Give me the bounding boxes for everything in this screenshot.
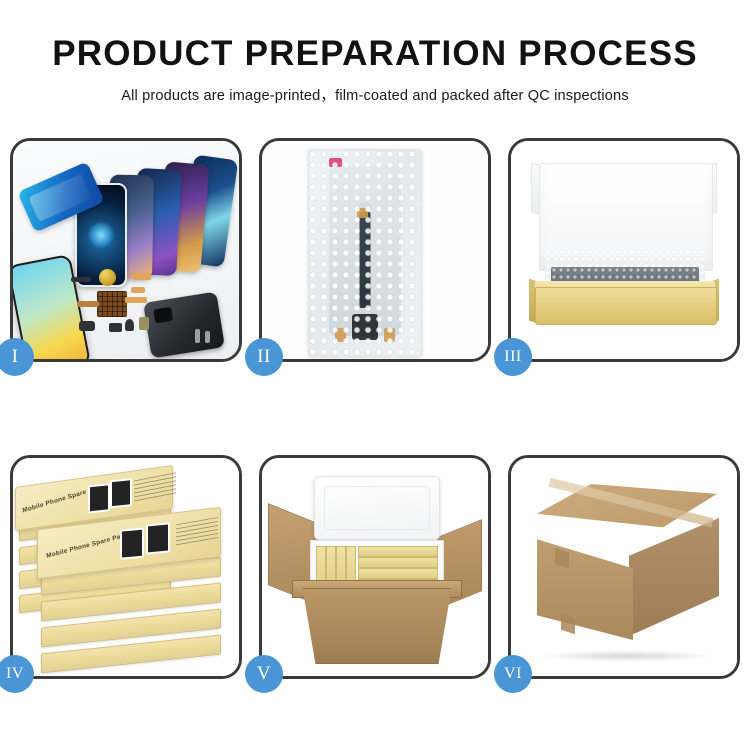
box-screen-image-2 [146,522,170,554]
step-panel-3[interactable]: III [508,138,740,362]
chip-board-part [97,291,127,317]
phone-back-cover [143,292,225,359]
box-screen-image-1 [88,483,110,513]
box-screen-image-2 [110,478,132,508]
step-numeral: VI [504,665,522,683]
camera-module-part [79,321,95,331]
vibration-motor-part [99,269,116,286]
box-spec-lines [176,517,218,546]
step-panel-2[interactable]: II [259,138,491,362]
page-title: PRODUCT PREPARATION PROCESS [0,0,750,73]
packed-box [358,568,438,579]
gold-contact-left [335,328,346,342]
packed-box [358,546,438,557]
step-4-image: Mobile Phone Spare Parts Mobile Phone Sp… [13,458,239,676]
kraft-box-front [535,287,717,325]
pink-label-sticker [329,158,342,167]
step-numeral: III [504,348,521,366]
step-badge-5: V [245,655,283,693]
small-ic-part [109,323,122,332]
step-numeral: V [257,663,271,685]
step-badge-4: IV [0,655,34,693]
flex-cable-1 [133,273,151,280]
step-numeral: II [257,346,271,368]
packed-box [358,557,438,568]
sim-tray-part [139,317,149,330]
foam-lid [314,476,440,540]
box-spec-lines [134,472,176,502]
flex-cable-2 [131,287,145,293]
step-badge-2: II [245,338,283,376]
steps-grid: I [0,138,750,698]
step-badge-6: VI [494,655,532,693]
step-numeral: IV [6,665,24,683]
flex-cable-3 [125,297,147,303]
box-shadow [539,650,715,662]
step-2-image [262,141,488,359]
header: PRODUCT PREPARATION PROCESS All products… [0,0,750,105]
step-5-image [262,458,488,676]
step-badge-1: I [0,338,34,376]
step-6-image [511,458,737,676]
box-screen-image-1 [120,528,144,560]
spudger-tool [205,331,210,343]
step-badge-3: III [494,338,532,376]
step-3-image [511,141,737,359]
gold-contact-right [384,328,395,342]
step-panel-5[interactable]: V [259,455,491,679]
lcd-flex-cable [360,212,371,308]
ribbon-connector-part [77,301,99,307]
speaker-part [125,319,134,331]
bubble-wrap-bag [308,149,422,357]
step-panel-6[interactable]: VI [508,455,740,679]
earpiece-mesh-part [71,277,91,282]
gold-contact-top [357,208,368,218]
step-panel-4[interactable]: Mobile Phone Spare Parts Mobile Phone Sp… [10,455,242,679]
carton-body [296,588,458,664]
step-1-image [13,141,239,359]
page-subtitle: All products are image-printed，film-coat… [0,73,750,105]
step-numeral: I [12,346,19,368]
product-preparation-infographic: PRODUCT PREPARATION PROCESS All products… [0,0,750,750]
screwdriver-tool [195,329,200,343]
box-label-text: Mobile Phone Spare Parts [46,531,130,560]
step-panel-1[interactable]: I [10,138,242,362]
lcd-connector [352,314,378,340]
